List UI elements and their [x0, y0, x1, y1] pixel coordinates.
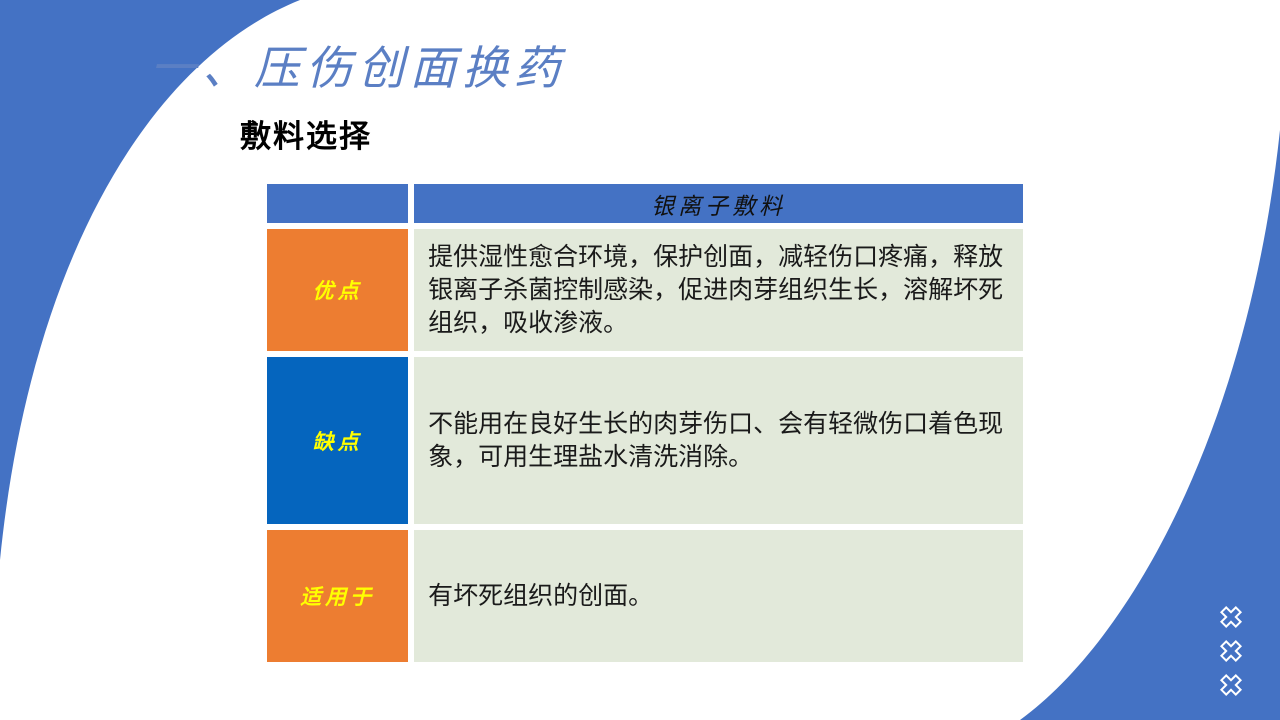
row-label-indications: 适用于 [264, 527, 411, 665]
table-header-value-cell: 银离子敷料 [411, 181, 1026, 226]
table-row: 适用于 有坏死组织的创面。 [264, 527, 1026, 665]
row-text-indications: 有坏死组织的创面。 [411, 527, 1026, 665]
table-row: 优点 提供湿性愈合环境，保护创面，减轻伤口疼痛，释放银离子杀菌控制感染，促进肉芽… [264, 226, 1026, 354]
table-header-corner-cell [264, 181, 411, 226]
page-title: 一、压伤创面换药 [150, 42, 1050, 96]
page-subtitle: 敷料选择 [240, 118, 372, 155]
table-header-row: 银离子敷料 [264, 181, 1026, 226]
cross-outline-icon [1219, 639, 1243, 663]
dressing-selection-table: 银离子敷料 优点 提供湿性愈合环境，保护创面，减轻伤口疼痛，释放银离子杀菌控制感… [264, 181, 1026, 665]
title-block: 一、压伤创面换药 敷料选择 [150, 42, 1050, 96]
row-text-advantages: 提供湿性愈合环境，保护创面，减轻伤口疼痛，释放银离子杀菌控制感染，促进肉芽组织生… [411, 226, 1026, 354]
row-text-disadvantages: 不能用在良好生长的肉芽伤口、会有轻微伤口着色现象，可用生理盐水清洗消除。 [411, 354, 1026, 527]
slide-canvas: 一、压伤创面换药 敷料选择 银离子敷料 优点 提供湿性愈合环境，保护创面，减轻伤… [0, 0, 1280, 720]
cross-outline-icon [1219, 673, 1243, 697]
row-label-advantages: 优点 [264, 226, 411, 354]
table-row: 缺点 不能用在良好生长的肉芽伤口、会有轻微伤口着色现象，可用生理盐水清洗消除。 [264, 354, 1026, 527]
corner-decoration-marks [1219, 605, 1245, 697]
row-label-disadvantages: 缺点 [264, 354, 411, 527]
cross-outline-icon [1219, 605, 1243, 629]
